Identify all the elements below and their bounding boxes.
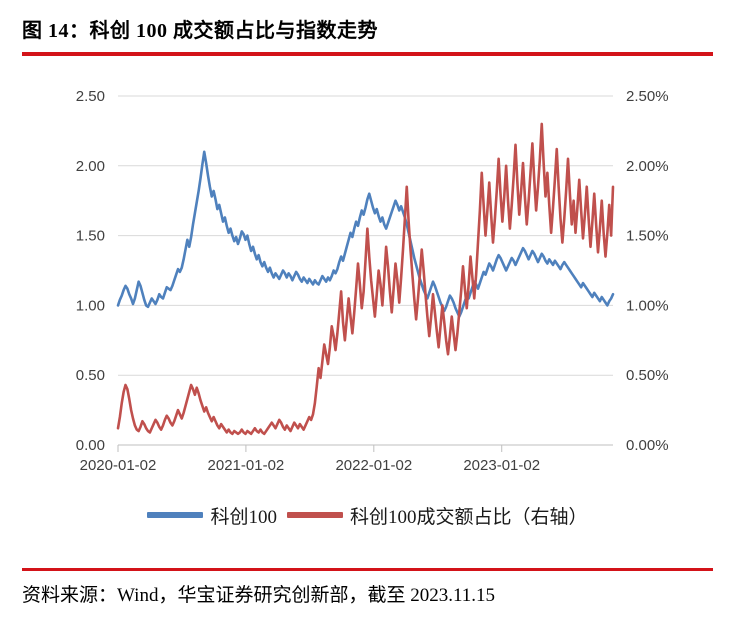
svg-text:2022-01-02: 2022-01-02 bbox=[335, 457, 412, 474]
svg-text:1.50%: 1.50% bbox=[626, 228, 669, 245]
legend-label-index: 科创100 bbox=[210, 502, 277, 529]
svg-text:1.00%: 1.00% bbox=[626, 297, 669, 314]
chart-legend: 科创100 科创100成交额占比（右轴） bbox=[0, 498, 735, 532]
legend-item-index[interactable]: 科创100 bbox=[147, 502, 277, 529]
source-note: 资料来源：Wind，华宝证券研究创新部，截至 2023.11.15 bbox=[22, 582, 712, 612]
svg-text:2023-01-02: 2023-01-02 bbox=[463, 457, 540, 474]
legend-item-turnover-share[interactable]: 科创100成交额占比（右轴） bbox=[287, 502, 588, 529]
svg-text:1.50: 1.50 bbox=[76, 228, 105, 245]
svg-text:2.00: 2.00 bbox=[76, 158, 105, 175]
svg-text:0.50: 0.50 bbox=[76, 367, 105, 384]
page-title: 图 14：科创 100 成交额占比与指数走势 bbox=[22, 16, 712, 52]
svg-text:0.50%: 0.50% bbox=[626, 367, 669, 384]
y-axis-left-tick-labels: 0.000.501.001.502.002.50 bbox=[76, 88, 105, 454]
chart-svg: 0.000.501.001.502.002.50 0.00%0.50%1.00%… bbox=[0, 62, 735, 482]
svg-text:2.50%: 2.50% bbox=[626, 88, 669, 105]
svg-text:0.00: 0.00 bbox=[76, 437, 105, 454]
svg-text:2.00%: 2.00% bbox=[626, 158, 669, 175]
y-axis-right-tick-labels: 0.00%0.50%1.00%1.50%2.00%2.50% bbox=[626, 88, 669, 454]
chart-axis-frame bbox=[118, 445, 613, 452]
title-divider bbox=[22, 52, 713, 56]
chart-container: 0.000.501.001.502.002.50 0.00%0.50%1.00%… bbox=[0, 62, 735, 482]
svg-text:1.00: 1.00 bbox=[76, 297, 105, 314]
svg-text:2021-01-02: 2021-01-02 bbox=[208, 457, 285, 474]
legend-label-turnover-share: 科创100成交额占比（右轴） bbox=[350, 502, 588, 529]
svg-text:0.00%: 0.00% bbox=[626, 437, 669, 454]
chart-series-lines bbox=[118, 124, 613, 434]
svg-text:2020-01-02: 2020-01-02 bbox=[80, 457, 157, 474]
x-axis-tick-labels: 2020-01-022021-01-022022-01-022023-01-02 bbox=[80, 457, 540, 474]
legend-swatch-turnover-share bbox=[287, 512, 343, 518]
legend-swatch-index bbox=[147, 512, 203, 518]
footer-divider bbox=[22, 568, 713, 571]
svg-text:2.50: 2.50 bbox=[76, 88, 105, 105]
